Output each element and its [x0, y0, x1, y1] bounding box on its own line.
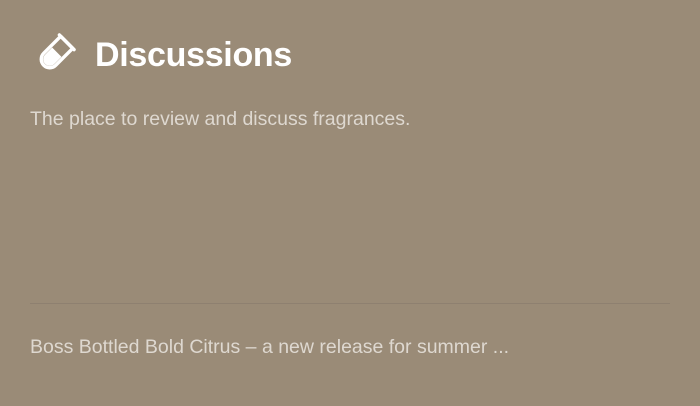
panel-subtitle: The place to review and discuss fragranc…	[30, 106, 410, 132]
list-item[interactable]: Boss Bottled Bold Citrus – a new release…	[30, 304, 670, 390]
discussion-list: Boss Bottled Bold Citrus – a new release…	[30, 304, 670, 390]
list-item-label: Boss Bottled Bold Citrus – a new release…	[30, 334, 509, 360]
test-tube-icon	[30, 31, 78, 79]
panel-header: Discussions	[30, 29, 292, 81]
discussions-panel: Discussions The place to review and disc…	[0, 0, 700, 406]
page-title: Discussions	[95, 38, 292, 72]
